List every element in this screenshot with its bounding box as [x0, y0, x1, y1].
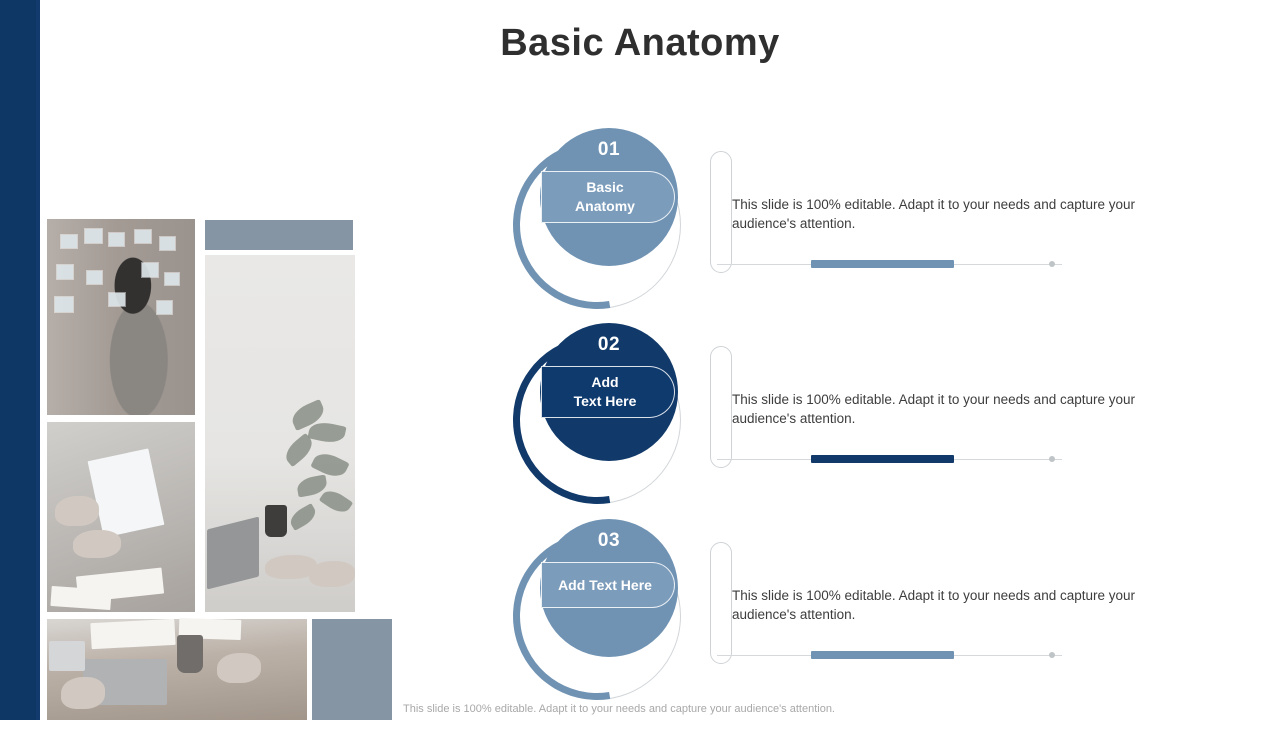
step-number: 03: [540, 530, 678, 552]
page-title: Basic Anatomy: [0, 22, 1280, 65]
footer-note: This slide is 100% editable. Adapt it to…: [403, 703, 835, 715]
step-number: 01: [540, 139, 678, 161]
step-connector-bracket: [710, 542, 732, 664]
step-body-text: This slide is 100% editable. Adapt it to…: [732, 586, 1150, 624]
photo-plant: [205, 255, 355, 612]
photo-desk: [47, 619, 307, 720]
photo-collage: [40, 210, 360, 720]
step-track-dot: [1049, 261, 1055, 267]
step-label-line1: Basic: [586, 179, 623, 195]
left-accent-bar: [0, 0, 36, 720]
step-row-3: 03 Add Text Here This slide is 100% edit…: [505, 514, 1165, 694]
step-connector-bracket: [710, 151, 732, 273]
step-label-box[interactable]: Add Text Here: [541, 366, 675, 418]
step-row-2: 02 Add Text Here This slide is 100% edit…: [505, 318, 1165, 498]
step-track-fill: [811, 260, 954, 268]
step-label-line2: Text Here: [574, 393, 637, 409]
accent-rect-bottom: [312, 619, 392, 720]
step-label-box[interactable]: Add Text Here: [541, 562, 675, 608]
step-label-line2: Anatomy: [575, 198, 635, 214]
step-connector-bracket: [710, 346, 732, 468]
step-label-line1: Add Text Here: [558, 576, 652, 595]
step-label-line1: Add: [591, 374, 618, 390]
step-row-1: 01 Basic Anatomy This slide is 100% edit…: [505, 123, 1165, 303]
step-track-dot: [1049, 652, 1055, 658]
step-label-box[interactable]: Basic Anatomy: [541, 171, 675, 223]
step-body-text: This slide is 100% editable. Adapt it to…: [732, 195, 1150, 233]
step-track-dot: [1049, 456, 1055, 462]
accent-rect-top: [205, 220, 353, 250]
step-track-fill: [811, 455, 954, 463]
step-body-text: This slide is 100% editable. Adapt it to…: [732, 390, 1150, 428]
photo-board: [47, 219, 195, 415]
step-track-fill: [811, 651, 954, 659]
step-number: 02: [540, 334, 678, 356]
photo-tablet: [47, 422, 195, 612]
